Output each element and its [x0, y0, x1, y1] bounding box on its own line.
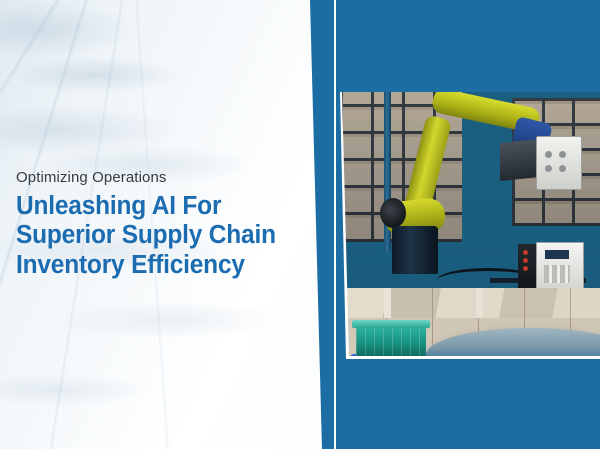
warehouse-robot-photo [340, 92, 600, 356]
knob-icon [559, 151, 566, 158]
knob-icon [559, 165, 566, 172]
headline-line-2: Superior Supply Chain [16, 221, 294, 251]
blog-banner: Optimizing Operations Unleashing AI For … [0, 0, 600, 449]
banner-headline: Unleashing AI For Superior Supply Chain … [16, 192, 294, 281]
tote-lid-icon [352, 320, 430, 328]
robot-arm-hub-icon [380, 198, 406, 228]
headline-line-3: Inventory Efficiency [16, 251, 294, 281]
box-tab-icon [384, 288, 391, 318]
control-cabinet-icon [536, 242, 584, 292]
banner-text-block: Optimizing Operations Unleashing AI For … [16, 170, 306, 280]
tote-ribs [356, 324, 426, 356]
indicator-light-icon [523, 250, 528, 255]
knob-icon [545, 151, 552, 158]
cabinet-keypad-icon [544, 265, 570, 283]
headline-line-1: Unleashing AI For [16, 192, 294, 222]
robot-arm-base-icon [392, 226, 438, 274]
storage-tote-icon [356, 324, 426, 356]
indicator-light-icon [523, 258, 528, 263]
indicator-light-icon [523, 266, 528, 271]
banner-eyebrow: Optimizing Operations [16, 170, 306, 187]
gripped-white-cabinet-icon [536, 136, 582, 190]
control-tower-dark-icon [518, 244, 536, 290]
knob-icon [545, 165, 552, 172]
box-tab-icon [476, 288, 483, 318]
cabinet-screen-icon [545, 250, 569, 259]
